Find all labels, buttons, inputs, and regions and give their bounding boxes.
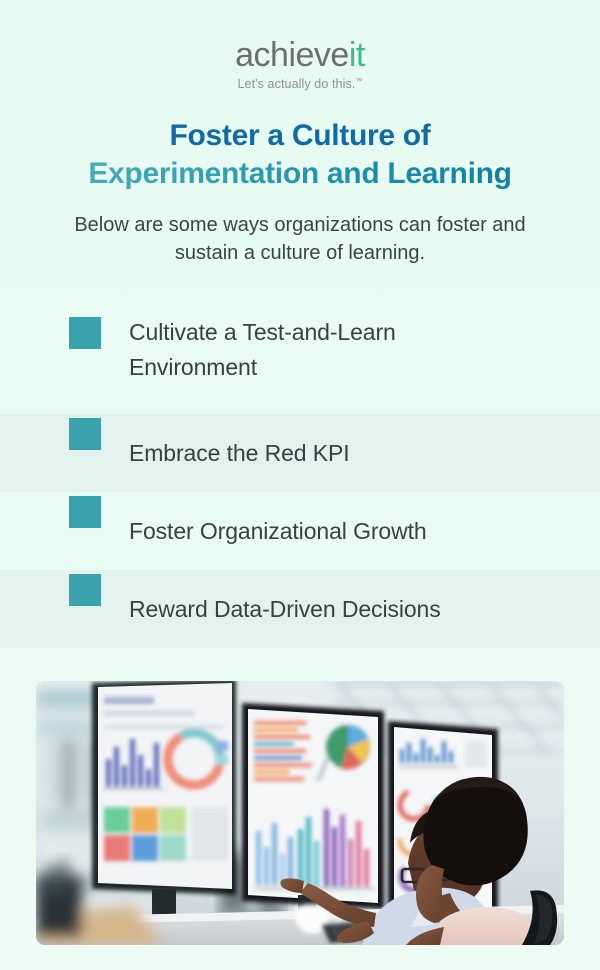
brand-logo: achieveit Let's actually do this.™ [0,0,600,91]
square-bullet-icon [69,574,101,606]
logo-tagline: Let's actually do this.™ [0,77,600,91]
list-item: Cultivate a Test-and-Learn Environment [0,299,600,414]
list-item-label: Reward Data-Driven Decisions [129,592,441,627]
page-title-line-1: Foster a Culture of [0,117,600,155]
logo-wordmark: achieveit [0,38,600,72]
trademark-icon: ™ [355,78,362,85]
list-item: Foster Organizational Growth [0,492,600,570]
infographic-page: achieveit Let's actually do this.™ Foste… [0,0,600,970]
tips-list: Cultivate a Test-and-Learn Environment E… [0,299,600,648]
office-photo [36,681,564,945]
square-bullet-icon [69,496,101,528]
page-subtitle: Below are some ways organizations can fo… [45,211,555,268]
page-title: Foster a Culture of Experimentation and … [0,117,600,193]
logo-word-accent: it [349,36,365,74]
square-bullet-icon [69,418,101,450]
square-bullet-icon [69,317,101,349]
list-item: Reward Data-Driven Decisions [0,570,600,648]
list-item-label: Foster Organizational Growth [129,514,427,549]
page-title-line-2: Experimentation and Learning [0,155,600,193]
list-item: Embrace the Red KPI [0,414,600,492]
photo-container [0,681,600,945]
logo-tagline-text: Let's actually do this. [237,77,355,91]
list-item-label: Embrace the Red KPI [129,436,350,471]
logo-word-main: achieve [235,36,349,74]
office-photo-graphic [36,681,564,945]
list-item-label: Cultivate a Test-and-Learn Environment [129,315,529,385]
